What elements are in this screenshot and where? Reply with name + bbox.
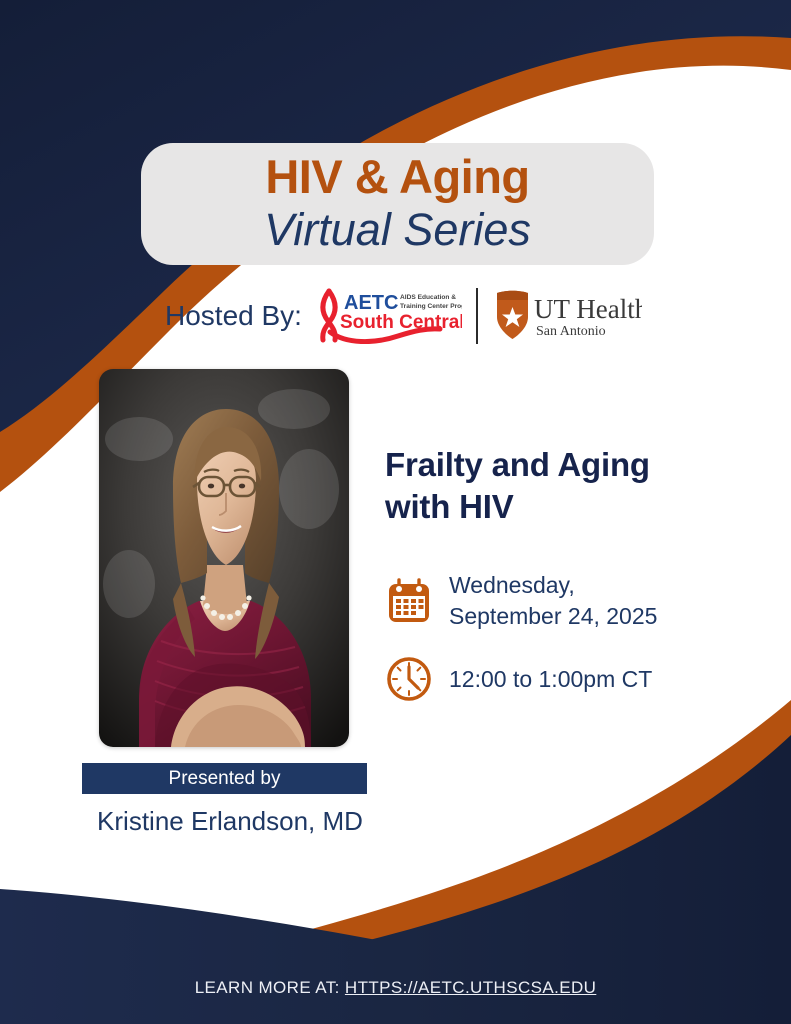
speaker-portrait-image bbox=[99, 369, 349, 747]
ut-health-primary: UT Health bbox=[534, 294, 642, 324]
aetc-acronym: AETC bbox=[344, 292, 398, 314]
session-date-row: Wednesday, September 24, 2025 bbox=[385, 570, 657, 631]
session-time-row: 12:00 to 1:00pm CT bbox=[385, 655, 652, 703]
footer-url-link[interactable]: HTTPS://AETC.UTHSCSA.EDU bbox=[345, 978, 596, 997]
session-date-text: Wednesday, September 24, 2025 bbox=[449, 570, 657, 631]
session-title: Frailty and Aging with HIV bbox=[385, 444, 715, 528]
calendar-icon bbox=[385, 577, 433, 625]
title-banner: HIV & Aging Virtual Series bbox=[141, 143, 654, 265]
presented-by-label: Presented by bbox=[169, 768, 281, 790]
logo-divider bbox=[476, 288, 478, 344]
hiv-aging-virtual-series-flyer: HIV & Aging Virtual Series Hosted By: AE… bbox=[0, 0, 791, 1024]
title-secondary: Virtual Series bbox=[264, 204, 531, 256]
presented-by-bar: Presented by bbox=[82, 763, 367, 794]
session-time-text: 12:00 to 1:00pm CT bbox=[449, 664, 652, 695]
ut-health-san-antonio-logo: UT Health San Antonio bbox=[492, 287, 642, 345]
hosted-by-row: Hosted By: AETC AIDS Education & Trainin… bbox=[165, 285, 642, 347]
aetc-subtitle-line1: AIDS Education & bbox=[400, 294, 456, 301]
footer-prefix: LEARN MORE AT: bbox=[195, 978, 345, 997]
title-primary: HIV & Aging bbox=[265, 152, 529, 201]
shield-star-icon bbox=[497, 291, 528, 339]
aetc-subtitle-line2: Training Center Program bbox=[400, 303, 462, 310]
hosted-by-label: Hosted By: bbox=[165, 300, 302, 332]
clock-icon bbox=[385, 655, 433, 703]
ut-health-secondary: San Antonio bbox=[536, 324, 606, 339]
aetc-region: South Central bbox=[340, 312, 462, 333]
presenter-name: Kristine Erlandson, MD bbox=[70, 806, 390, 837]
speaker-portrait bbox=[99, 369, 349, 747]
aetc-south-central-logo: AETC AIDS Education & Training Center Pr… bbox=[316, 288, 462, 344]
footer: LEARN MORE AT: HTTPS://AETC.UTHSCSA.EDU bbox=[0, 978, 791, 998]
